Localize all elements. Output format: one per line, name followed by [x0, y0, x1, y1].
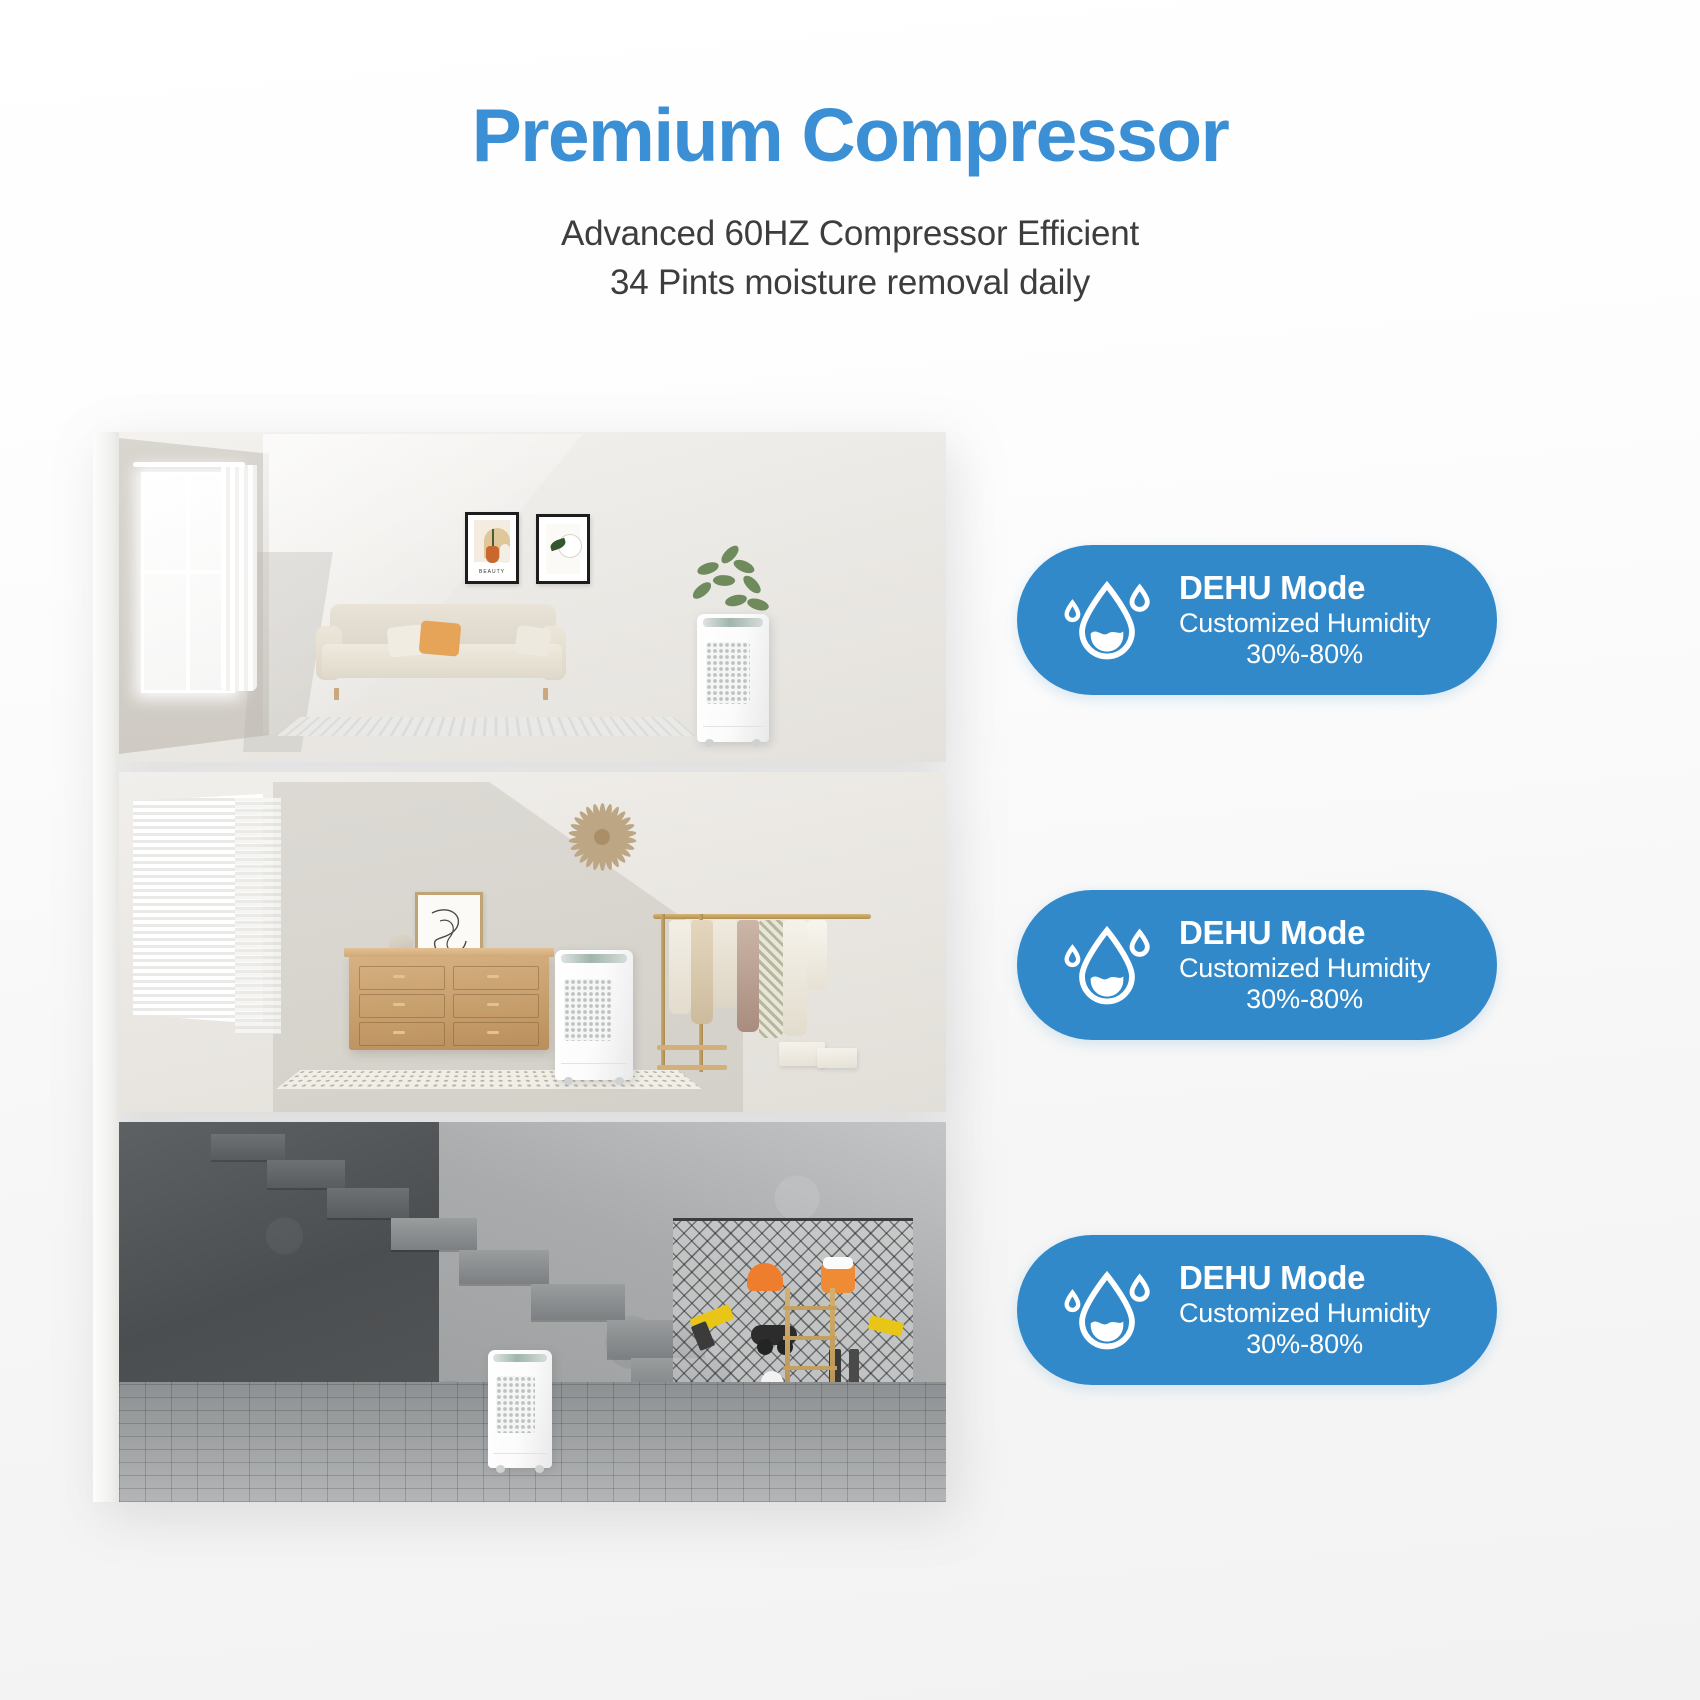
hard-hat-icon	[747, 1263, 783, 1291]
sunburst-hub	[594, 829, 610, 845]
badge-dehu-mode-upstairs[interactable]: DEHU Mode Customized Humidity 30%-80%	[1017, 545, 1497, 695]
garment	[669, 920, 691, 1014]
area-rug	[277, 717, 698, 736]
framed-art-flower	[536, 514, 590, 584]
sofa	[316, 604, 566, 690]
badge-title: DEHU Mode	[1179, 914, 1430, 953]
header: Premium Compressor Advanced 60HZ Compres…	[0, 96, 1700, 308]
sofa-leg	[334, 688, 339, 700]
page-title: Premium Compressor	[0, 96, 1700, 175]
rack-shelf	[657, 1045, 727, 1050]
stair-step	[391, 1218, 477, 1250]
art-stem	[492, 529, 494, 547]
badge-dehu-mode-bedroom[interactable]: DEHU Mode Customized Humidity 30%-80%	[1017, 890, 1497, 1040]
bucket-contents	[823, 1257, 853, 1269]
clothing-rack	[653, 896, 873, 1072]
stair-step	[531, 1284, 625, 1320]
hand-tool-icon	[868, 1315, 904, 1337]
badge-title: DEHU Mode	[1179, 569, 1430, 608]
storage-box	[817, 1048, 857, 1068]
dehumidifier-tank-seam	[703, 726, 763, 727]
dehumidifier-tank-seam	[493, 1453, 547, 1454]
badge-text-block: DEHU Mode Customized Humidity 30%-80%	[1179, 569, 1430, 672]
dresser-top	[344, 948, 554, 957]
garment	[737, 920, 759, 1032]
art-vase-orange	[486, 546, 499, 563]
cushion-orange	[419, 620, 462, 656]
art-vase-white	[500, 544, 510, 563]
stair-step	[211, 1134, 285, 1160]
ladder-rung	[783, 1306, 837, 1310]
dresser-drawer	[453, 966, 539, 990]
garment	[807, 920, 827, 990]
garment	[713, 920, 737, 1008]
dehumidifier-control-panel	[703, 618, 763, 627]
subtitle-line-2: 34 Pints moisture removal daily	[0, 258, 1700, 308]
dehumidifier-air-grille	[496, 1376, 536, 1433]
floor-bedroom-wardrobe	[93, 772, 946, 1112]
badge-humidity-range: 30%-80%	[1179, 639, 1430, 671]
garment	[691, 920, 713, 1024]
badge-text-block: DEHU Mode Customized Humidity 30%-80%	[1179, 914, 1430, 1017]
water-drop-icon	[1059, 917, 1155, 1013]
stair-step	[459, 1250, 549, 1284]
art-canvas	[546, 524, 580, 574]
floor-living-room: BEAUTY	[93, 432, 946, 762]
cushion-cream-2	[514, 625, 551, 657]
badge-humidity-range: 30%-80%	[1179, 1329, 1430, 1361]
dehumidifier-caster	[615, 1077, 624, 1085]
dehumidifier-caster	[705, 739, 714, 747]
water-drop-icon	[1059, 572, 1155, 668]
badge-title: DEHU Mode	[1179, 1259, 1430, 1298]
ladder-rung	[783, 1336, 837, 1340]
art-canvas	[474, 520, 510, 562]
stair-step	[327, 1188, 409, 1218]
badge-subtitle: Customized Humidity	[1179, 1298, 1430, 1330]
garment-houndstooth	[759, 920, 783, 1038]
dehumidifier-unit-bedroom	[555, 950, 633, 1080]
dresser-drawer	[453, 994, 539, 1018]
dotted-rug	[276, 1070, 702, 1089]
dresser-drawer	[359, 994, 445, 1018]
dehumidifier-unit-living-room	[697, 614, 769, 742]
sunburst-wall-decor	[565, 800, 639, 874]
stair-step	[267, 1160, 345, 1188]
dehumidifier-tank-seam	[561, 1063, 627, 1064]
window-blinds-secondary	[235, 798, 281, 1034]
floor-basement	[93, 1122, 946, 1502]
wooden-dresser	[349, 954, 549, 1050]
curtain-rail	[133, 462, 245, 467]
badge-subtitle: Customized Humidity	[1179, 953, 1430, 985]
art-caption: BEAUTY	[474, 569, 510, 577]
dehumidifier-air-grille	[706, 642, 751, 703]
three-story-house-cutaway: BEAUTY	[93, 432, 946, 1502]
page-subtitle: Advanced 60HZ Compressor Efficient 34 Pi…	[0, 209, 1700, 308]
water-drop-icon	[1059, 1262, 1155, 1358]
dehumidifier-caster	[496, 1465, 505, 1473]
dresser-drawer	[359, 1022, 445, 1046]
sofa-leg	[543, 688, 548, 700]
dehumidifier-caster	[564, 1077, 573, 1085]
dehumidifier-caster	[752, 739, 761, 747]
badge-subtitle: Customized Humidity	[1179, 608, 1430, 640]
hand-tool-icon	[757, 1339, 773, 1355]
rack-hanging-bar	[653, 914, 871, 919]
dehumidifier-unit-basement	[488, 1350, 552, 1468]
dehumidifier-control-panel	[561, 954, 627, 963]
framed-art-beauty: BEAUTY	[465, 512, 519, 584]
curtain	[221, 465, 257, 691]
badge-humidity-range: 30%-80%	[1179, 984, 1430, 1016]
badge-dehu-mode-basement[interactable]: DEHU Mode Customized Humidity 30%-80%	[1017, 1235, 1497, 1385]
badge-text-block: DEHU Mode Customized Humidity 30%-80%	[1179, 1259, 1430, 1362]
dehumidifier-control-panel	[493, 1354, 547, 1362]
ladder-rung	[783, 1366, 837, 1370]
house-left-wall	[93, 432, 119, 1502]
garment	[783, 920, 807, 1036]
dresser-drawer	[453, 1022, 539, 1046]
subtitle-line-1: Advanced 60HZ Compressor Efficient	[0, 209, 1700, 259]
dehumidifier-caster	[535, 1465, 544, 1473]
dresser-drawer	[359, 966, 445, 990]
dehumidifier-air-grille	[564, 979, 612, 1041]
